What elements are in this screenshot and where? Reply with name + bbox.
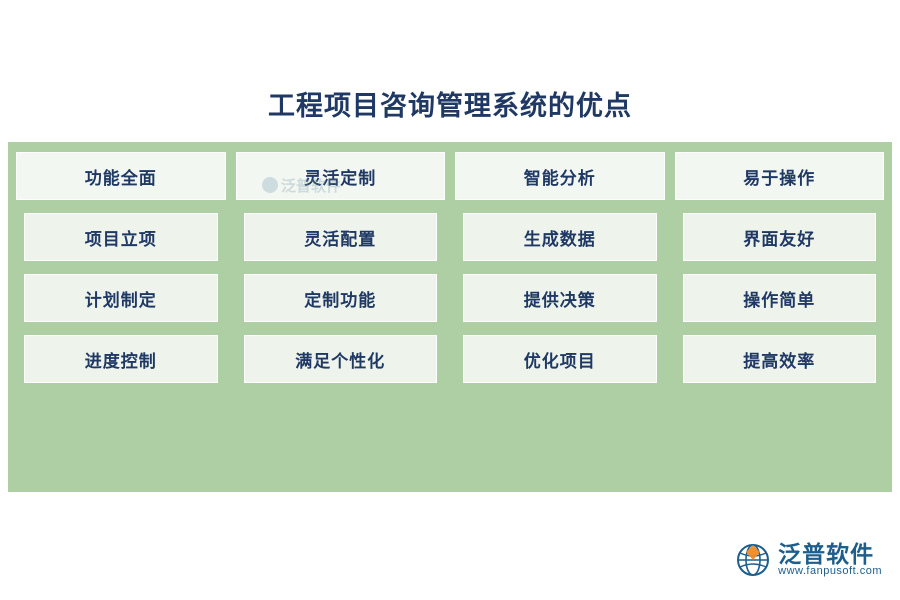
logo-name: 泛普软件 — [778, 542, 882, 566]
list-item: 计划制定 — [24, 274, 218, 322]
column-header: 智能分析 — [455, 152, 665, 200]
advantages-board: 功能全面 项目立项 计划制定 进度控制 灵活定制 灵活配置 定制功能 满足个性化… — [8, 142, 892, 492]
column-header: 灵活定制 — [236, 152, 446, 200]
page-title: 工程项目咨询管理系统的优点 — [0, 84, 900, 123]
logo-text: 泛普软件 www.fanpusoft.com — [778, 542, 882, 578]
column-usability: 易于操作 界面友好 操作简单 提高效率 — [675, 152, 885, 482]
list-item: 进度控制 — [24, 335, 218, 383]
list-item: 生成数据 — [463, 213, 657, 261]
column-functionality: 功能全面 项目立项 计划制定 进度控制 — [16, 152, 226, 482]
list-item: 提供决策 — [463, 274, 657, 322]
column-header: 功能全面 — [16, 152, 226, 200]
brand-logo: 泛普软件 www.fanpusoft.com — [736, 542, 882, 578]
diagram-page: 工程项目咨询管理系统的优点 功能全面 项目立项 计划制定 进度控制 灵活定制 灵… — [0, 0, 900, 600]
logo-url: www.fanpusoft.com — [778, 566, 882, 578]
column-customization: 灵活定制 灵活配置 定制功能 满足个性化 — [236, 152, 446, 482]
column-analysis: 智能分析 生成数据 提供决策 优化项目 — [455, 152, 665, 482]
list-item: 提高效率 — [683, 335, 877, 383]
column-header: 易于操作 — [675, 152, 885, 200]
list-item: 满足个性化 — [244, 335, 438, 383]
list-item: 定制功能 — [244, 274, 438, 322]
list-item: 界面友好 — [683, 213, 877, 261]
list-item: 操作简单 — [683, 274, 877, 322]
list-item: 优化项目 — [463, 335, 657, 383]
list-item: 灵活配置 — [244, 213, 438, 261]
globe-icon — [736, 543, 770, 577]
list-item: 项目立项 — [24, 213, 218, 261]
